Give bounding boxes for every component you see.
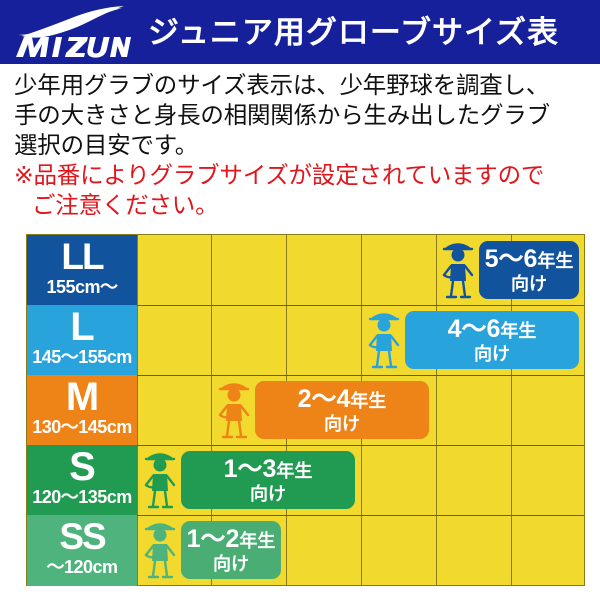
child-with-glove-figure-m <box>215 379 253 441</box>
description-note-line-2-text: ご注意ください。 <box>32 192 218 218</box>
grade-badge-ss-range: 1〜2 <box>187 525 240 553</box>
mizuno-wordmark-icon <box>14 33 132 59</box>
grade-badge-m-range: 2〜4 <box>298 385 351 413</box>
row-ll-size: LL <box>61 236 102 278</box>
grade-badge-m-suffix: 年生 <box>350 391 386 411</box>
grade-badge-s-line1: 1〜3年生 <box>224 457 313 482</box>
glove-size-chart-page: ジュニア用グローブサイズ表 少年用グラブのサイズ表示は、少年野球を調査し、 手の… <box>0 0 600 600</box>
page-header: ジュニア用グローブサイズ表 <box>0 0 600 64</box>
row-l-height: 145〜155cm <box>32 347 132 367</box>
grade-badge-l-suffix: 年生 <box>500 321 536 341</box>
child-with-glove-figure-s <box>141 449 179 511</box>
grade-badge-m-line2: 向け <box>324 415 360 433</box>
grade-badge-m: 2〜4年生 向け <box>255 381 429 439</box>
row-label-ll: LL 155cm〜 <box>27 235 137 305</box>
grade-badge-l: 4〜6年生 向け <box>405 311 579 369</box>
description-note-line-1: ※品番によりグラブサイズが設定されていますので <box>14 160 589 190</box>
child-with-glove-figure-ll <box>439 239 477 301</box>
row-ll-height: 155cm〜 <box>46 277 117 297</box>
grade-badge-l-line2: 向け <box>474 345 510 363</box>
grid-vline-5 <box>436 235 437 585</box>
mizuno-logo <box>12 3 134 61</box>
grade-badge-s-range: 1〜3 <box>224 455 277 483</box>
grade-badge-ll-range: 5〜6 <box>485 245 538 273</box>
description-note-line-2: ご注意ください。 <box>14 190 589 220</box>
grade-badge-ss-line1: 1〜2年生 <box>187 527 276 552</box>
description-line-3: 選択の目安です。 <box>14 130 589 160</box>
row-label-s: S 120〜135cm <box>27 445 137 515</box>
page-title: ジュニア用グローブサイズ表 <box>148 17 559 48</box>
row-ss-height: 〜120cm <box>46 557 117 577</box>
row-label-ss: SS 〜120cm <box>27 515 137 586</box>
grade-badge-l-range: 4〜6 <box>448 315 501 343</box>
row-label-m: M 130〜145cm <box>27 375 137 445</box>
grade-badge-l-line1: 4〜6年生 <box>448 317 537 342</box>
grade-badge-ll: 5〜6年生 向け <box>479 241 579 299</box>
grade-badge-ss-line2: 向け <box>213 555 249 573</box>
grade-badge-s-line2: 向け <box>250 485 286 503</box>
row-m-size: M <box>66 376 98 418</box>
grade-badge-s: 1〜3年生 向け <box>181 451 355 509</box>
description-line-1: 少年用グラブのサイズ表示は、少年野球を調査し、 <box>14 70 589 100</box>
grade-badge-ss: 1〜2年生 向け <box>181 521 281 579</box>
row-l-size: L <box>70 306 93 348</box>
row-s-height: 120〜135cm <box>32 487 132 507</box>
description-line-2: 手の大きさと身長の相関関係から生み出したグラブ <box>14 100 589 130</box>
grade-badge-ll-line1: 5〜6年生 <box>485 247 574 272</box>
row-ss-size: SS <box>59 516 104 558</box>
grid-vline-1 <box>137 235 138 585</box>
grade-badge-ll-line2: 向け <box>511 275 547 293</box>
child-with-glove-figure-l <box>365 309 403 371</box>
child-with-glove-figure-ss <box>141 519 179 581</box>
grade-badge-s-suffix: 年生 <box>276 461 312 481</box>
grade-badge-ss-suffix: 年生 <box>239 531 275 551</box>
grade-badge-m-line1: 2〜4年生 <box>298 387 387 412</box>
row-s-size: S <box>69 446 95 488</box>
description-block: 少年用グラブのサイズ表示は、少年野球を調査し、 手の大きさと身長の相関関係から生… <box>14 70 589 220</box>
grade-badge-ll-suffix: 年生 <box>537 251 573 271</box>
size-table: LL 155cm〜 5〜6年生 向け L 145〜155cm <box>26 234 585 586</box>
row-label-l: L 145〜155cm <box>27 305 137 375</box>
row-m-height: 130〜145cm <box>32 417 132 437</box>
